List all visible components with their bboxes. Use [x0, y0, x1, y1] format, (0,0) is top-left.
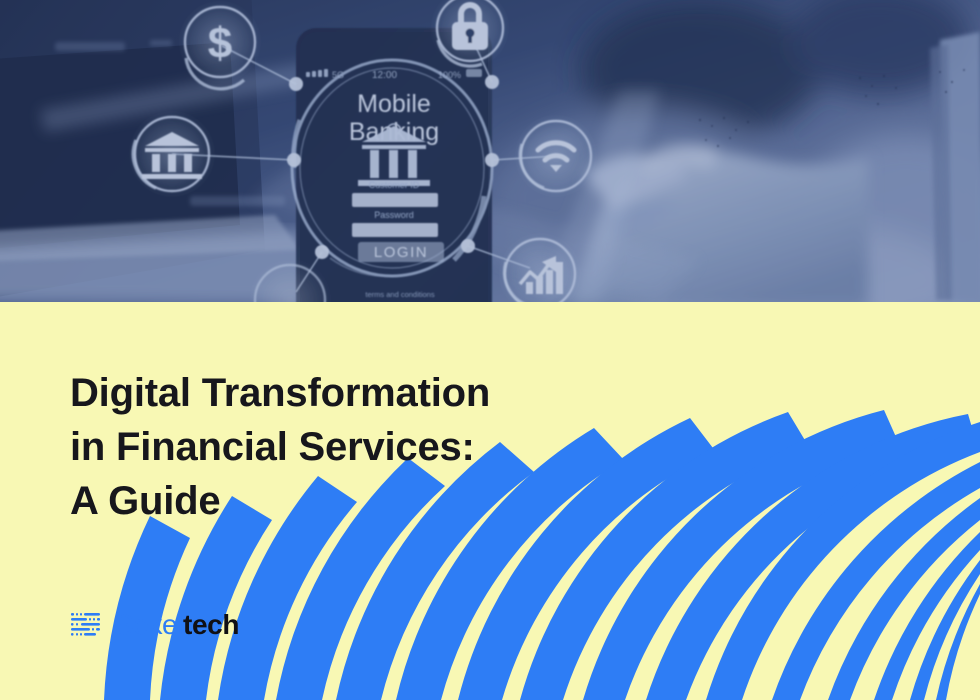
page-title: Digital Transformation in Financial Serv…	[70, 366, 590, 528]
sekeltech-logo-mark-icon	[70, 608, 104, 642]
logo-word-secondary: tech	[183, 610, 239, 640]
title-line-3: A Guide	[70, 474, 590, 528]
mobile-banking-photograph: 5G 12:00 100% Mobile Banking	[0, 0, 980, 302]
logo-word-primary: Sekel	[115, 610, 183, 640]
sekeltech-logo[interactable]: Sekeltech	[70, 608, 239, 642]
sekeltech-logo-wordmark: Sekeltech	[115, 610, 239, 640]
title-line-2: in Financial Services:	[70, 420, 590, 474]
hero-image: 5G 12:00 100% Mobile Banking	[0, 0, 980, 302]
blog-cover: 5G 12:00 100% Mobile Banking	[0, 0, 980, 700]
title-line-1: Digital Transformation	[70, 366, 590, 420]
